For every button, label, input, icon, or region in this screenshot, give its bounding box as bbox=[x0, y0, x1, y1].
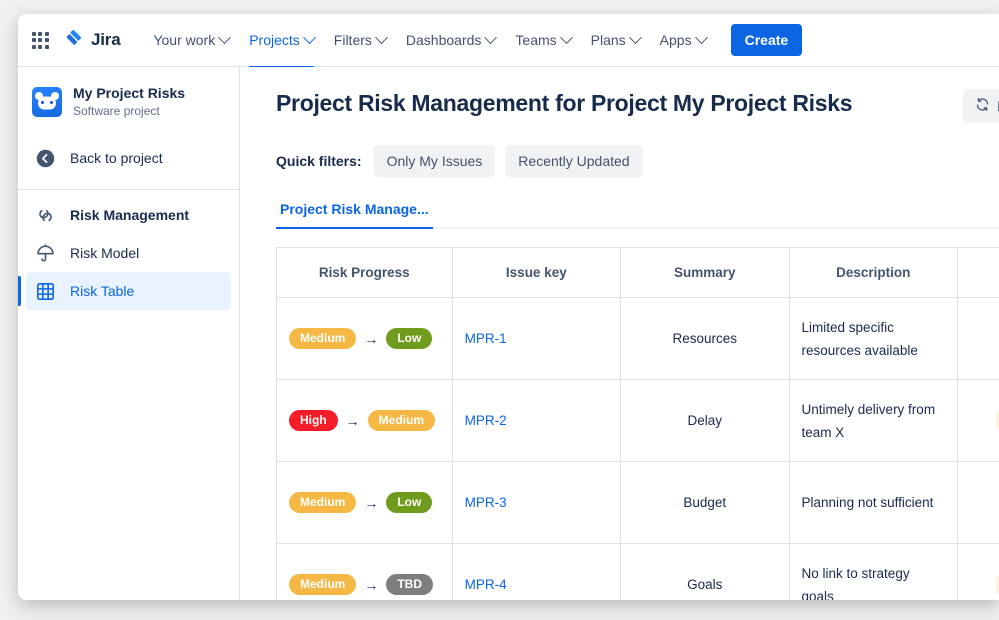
arrow-right-icon: → bbox=[364, 578, 378, 592]
sidebar-item-label: Risk Model bbox=[70, 245, 139, 261]
grid-apps-icon bbox=[32, 32, 49, 49]
cell-description: Limited specific resources available bbox=[789, 298, 957, 380]
quick-filter-recently-updated[interactable]: Recently Updated bbox=[505, 145, 642, 177]
quick-filter-only-my-issues[interactable]: Only My Issues bbox=[374, 145, 496, 177]
cell-issue-key: MPR-3 bbox=[452, 462, 620, 544]
risk-pill-to: Low bbox=[386, 328, 432, 349]
sidebar-item-risk-table[interactable]: Risk Table bbox=[26, 272, 231, 310]
chevron-down-icon bbox=[560, 31, 573, 44]
cell-issue-key: MPR-2 bbox=[452, 380, 620, 462]
quick-filters-bar: Quick filters: Only My Issues Recently U… bbox=[276, 145, 999, 177]
cell-status: IN MITIGATION bbox=[958, 544, 999, 601]
nav-item-filters[interactable]: Filters bbox=[325, 25, 395, 55]
cell-risk-progress: Medium → Low bbox=[277, 298, 453, 380]
tab-project-risk-management[interactable]: Project Risk Manage... bbox=[276, 201, 433, 227]
grid-table-icon bbox=[32, 281, 58, 302]
issue-key-link[interactable]: MPR-1 bbox=[465, 331, 507, 346]
cell-status: IN MITIGATION bbox=[958, 380, 999, 462]
cell-summary: Delay bbox=[621, 380, 789, 462]
chevron-down-icon bbox=[695, 31, 708, 44]
nav-item-apps[interactable]: Apps bbox=[651, 25, 715, 55]
description-text: No link to strategy goals bbox=[802, 566, 910, 601]
sidebar-section-label: Risk Management bbox=[70, 207, 189, 223]
cell-status: MITIGATED bbox=[958, 462, 999, 544]
risk-pill-to: Medium bbox=[368, 410, 435, 431]
risk-table: Risk Progress Issue key Summary Descript… bbox=[276, 247, 999, 600]
cell-risk-progress: Medium → Low bbox=[277, 462, 453, 544]
nav-item-label: Projects bbox=[249, 32, 300, 48]
cell-summary: Resources bbox=[621, 298, 789, 380]
nav-item-label: Filters bbox=[334, 32, 372, 48]
cell-issue-key: MPR-1 bbox=[452, 298, 620, 380]
risk-pill-from: High bbox=[289, 410, 338, 431]
sidebar-item-risk-model[interactable]: Risk Model bbox=[26, 234, 231, 272]
link-chain-icon bbox=[32, 205, 58, 226]
tab-strip: Project Risk Manage... bbox=[276, 201, 999, 229]
cell-summary: Budget bbox=[621, 462, 789, 544]
main-content: Project Risk Management for Project My P… bbox=[240, 67, 999, 600]
chevron-down-icon bbox=[303, 31, 316, 44]
project-type: Software project bbox=[73, 103, 185, 119]
risk-pill-from: Medium bbox=[289, 492, 356, 513]
selection-indicator bbox=[18, 276, 21, 306]
description-text: Untimely delivery from team X bbox=[802, 402, 936, 440]
chevron-down-icon bbox=[485, 31, 498, 44]
column-header-status[interactable]: Status bbox=[958, 248, 999, 298]
back-to-project-label: Back to project bbox=[70, 150, 163, 166]
issue-key-link[interactable]: MPR-3 bbox=[465, 495, 507, 510]
risk-table-body: Medium → Low MPR-1 Resources Limited spe… bbox=[277, 298, 999, 601]
nav-item-dashboards[interactable]: Dashboards bbox=[397, 25, 505, 55]
column-header-description[interactable]: Description bbox=[789, 248, 957, 298]
cell-issue-key: MPR-4 bbox=[452, 544, 620, 601]
browser-window: Jira Your work Projects Filters Dashboar… bbox=[18, 14, 999, 600]
table-row: Medium → Low MPR-3 Budget Planning not s… bbox=[277, 462, 999, 544]
risk-pill-from: Medium bbox=[289, 328, 356, 349]
risk-pill-to: TBD bbox=[386, 574, 433, 595]
risk-pill-to: Low bbox=[386, 492, 432, 513]
table-row: Medium → TBD MPR-4 Goals No link to stra… bbox=[277, 544, 999, 601]
risk-pill-from: Medium bbox=[289, 574, 356, 595]
nav-item-label: Dashboards bbox=[406, 32, 482, 48]
chevron-down-icon bbox=[629, 31, 642, 44]
arrow-left-circle-icon bbox=[32, 148, 58, 169]
page-title: Project Risk Management for Project My P… bbox=[276, 89, 999, 117]
cell-status: REVIEWED bbox=[958, 298, 999, 380]
nav-item-label: Plans bbox=[591, 32, 626, 48]
chevron-down-icon bbox=[218, 31, 231, 44]
arrow-right-icon: → bbox=[364, 496, 378, 510]
cell-summary: Goals bbox=[621, 544, 789, 601]
nav-item-label: Your work bbox=[153, 32, 215, 48]
issue-key-link[interactable]: MPR-2 bbox=[465, 413, 507, 428]
nav-item-projects[interactable]: Projects bbox=[240, 25, 323, 55]
table-header-row: Risk Progress Issue key Summary Descript… bbox=[277, 248, 999, 298]
description-text: Limited specific resources available bbox=[802, 320, 918, 358]
cell-risk-progress: Medium → TBD bbox=[277, 544, 453, 601]
app-switcher-button[interactable] bbox=[24, 24, 56, 56]
column-header-issue-key[interactable]: Issue key bbox=[452, 248, 620, 298]
create-button[interactable]: Create bbox=[731, 24, 803, 56]
sidebar-section-risk-management[interactable]: Risk Management bbox=[26, 196, 231, 234]
jira-home-link[interactable]: Jira bbox=[58, 24, 130, 57]
risk-table-head: Risk Progress Issue key Summary Descript… bbox=[277, 248, 999, 298]
cell-description: Untimely delivery from team X bbox=[789, 380, 957, 462]
nav-item-teams[interactable]: Teams bbox=[506, 25, 579, 55]
sidebar-item-label: Risk Table bbox=[70, 283, 134, 299]
primary-nav-items: Your work Projects Filters Dashboards Te… bbox=[144, 24, 802, 56]
jira-logo-icon bbox=[64, 28, 84, 53]
body-split: My Project Risks Software project Back t… bbox=[18, 67, 999, 600]
project-header[interactable]: My Project Risks Software project bbox=[18, 79, 239, 125]
nav-item-your-work[interactable]: Your work bbox=[144, 25, 238, 55]
sidebar-divider bbox=[18, 189, 239, 190]
project-avatar-koala-icon bbox=[32, 87, 62, 117]
nav-item-label: Teams bbox=[515, 32, 556, 48]
table-row: High → Medium MPR-2 Delay Untimely deliv… bbox=[277, 380, 999, 462]
description-text: Planning not sufficient bbox=[802, 495, 934, 510]
nav-item-label: Apps bbox=[660, 32, 692, 48]
cell-risk-progress: High → Medium bbox=[277, 380, 453, 462]
column-header-risk-progress[interactable]: Risk Progress bbox=[277, 248, 453, 298]
table-row: Medium → Low MPR-1 Resources Limited spe… bbox=[277, 298, 999, 380]
chevron-down-icon bbox=[375, 31, 388, 44]
project-sidebar: My Project Risks Software project Back t… bbox=[18, 67, 240, 600]
top-navigation-bar: Jira Your work Projects Filters Dashboar… bbox=[18, 14, 999, 67]
cell-description: No link to strategy goals bbox=[789, 544, 957, 601]
quick-filters-label: Quick filters: bbox=[276, 153, 362, 169]
brand-name: Jira bbox=[91, 30, 120, 50]
back-to-project-link[interactable]: Back to project bbox=[26, 139, 231, 177]
project-name: My Project Risks bbox=[73, 85, 185, 102]
issue-key-link[interactable]: MPR-4 bbox=[465, 577, 507, 592]
arrow-right-icon: → bbox=[364, 332, 378, 346]
arrow-right-icon: → bbox=[346, 414, 360, 428]
umbrella-icon bbox=[32, 243, 58, 264]
cell-description: Planning not sufficient bbox=[789, 462, 957, 544]
refresh-icon bbox=[975, 97, 990, 115]
column-header-summary[interactable]: Summary bbox=[621, 248, 789, 298]
nav-item-plans[interactable]: Plans bbox=[582, 25, 649, 55]
refresh-button[interactable]: Re bbox=[963, 89, 999, 123]
